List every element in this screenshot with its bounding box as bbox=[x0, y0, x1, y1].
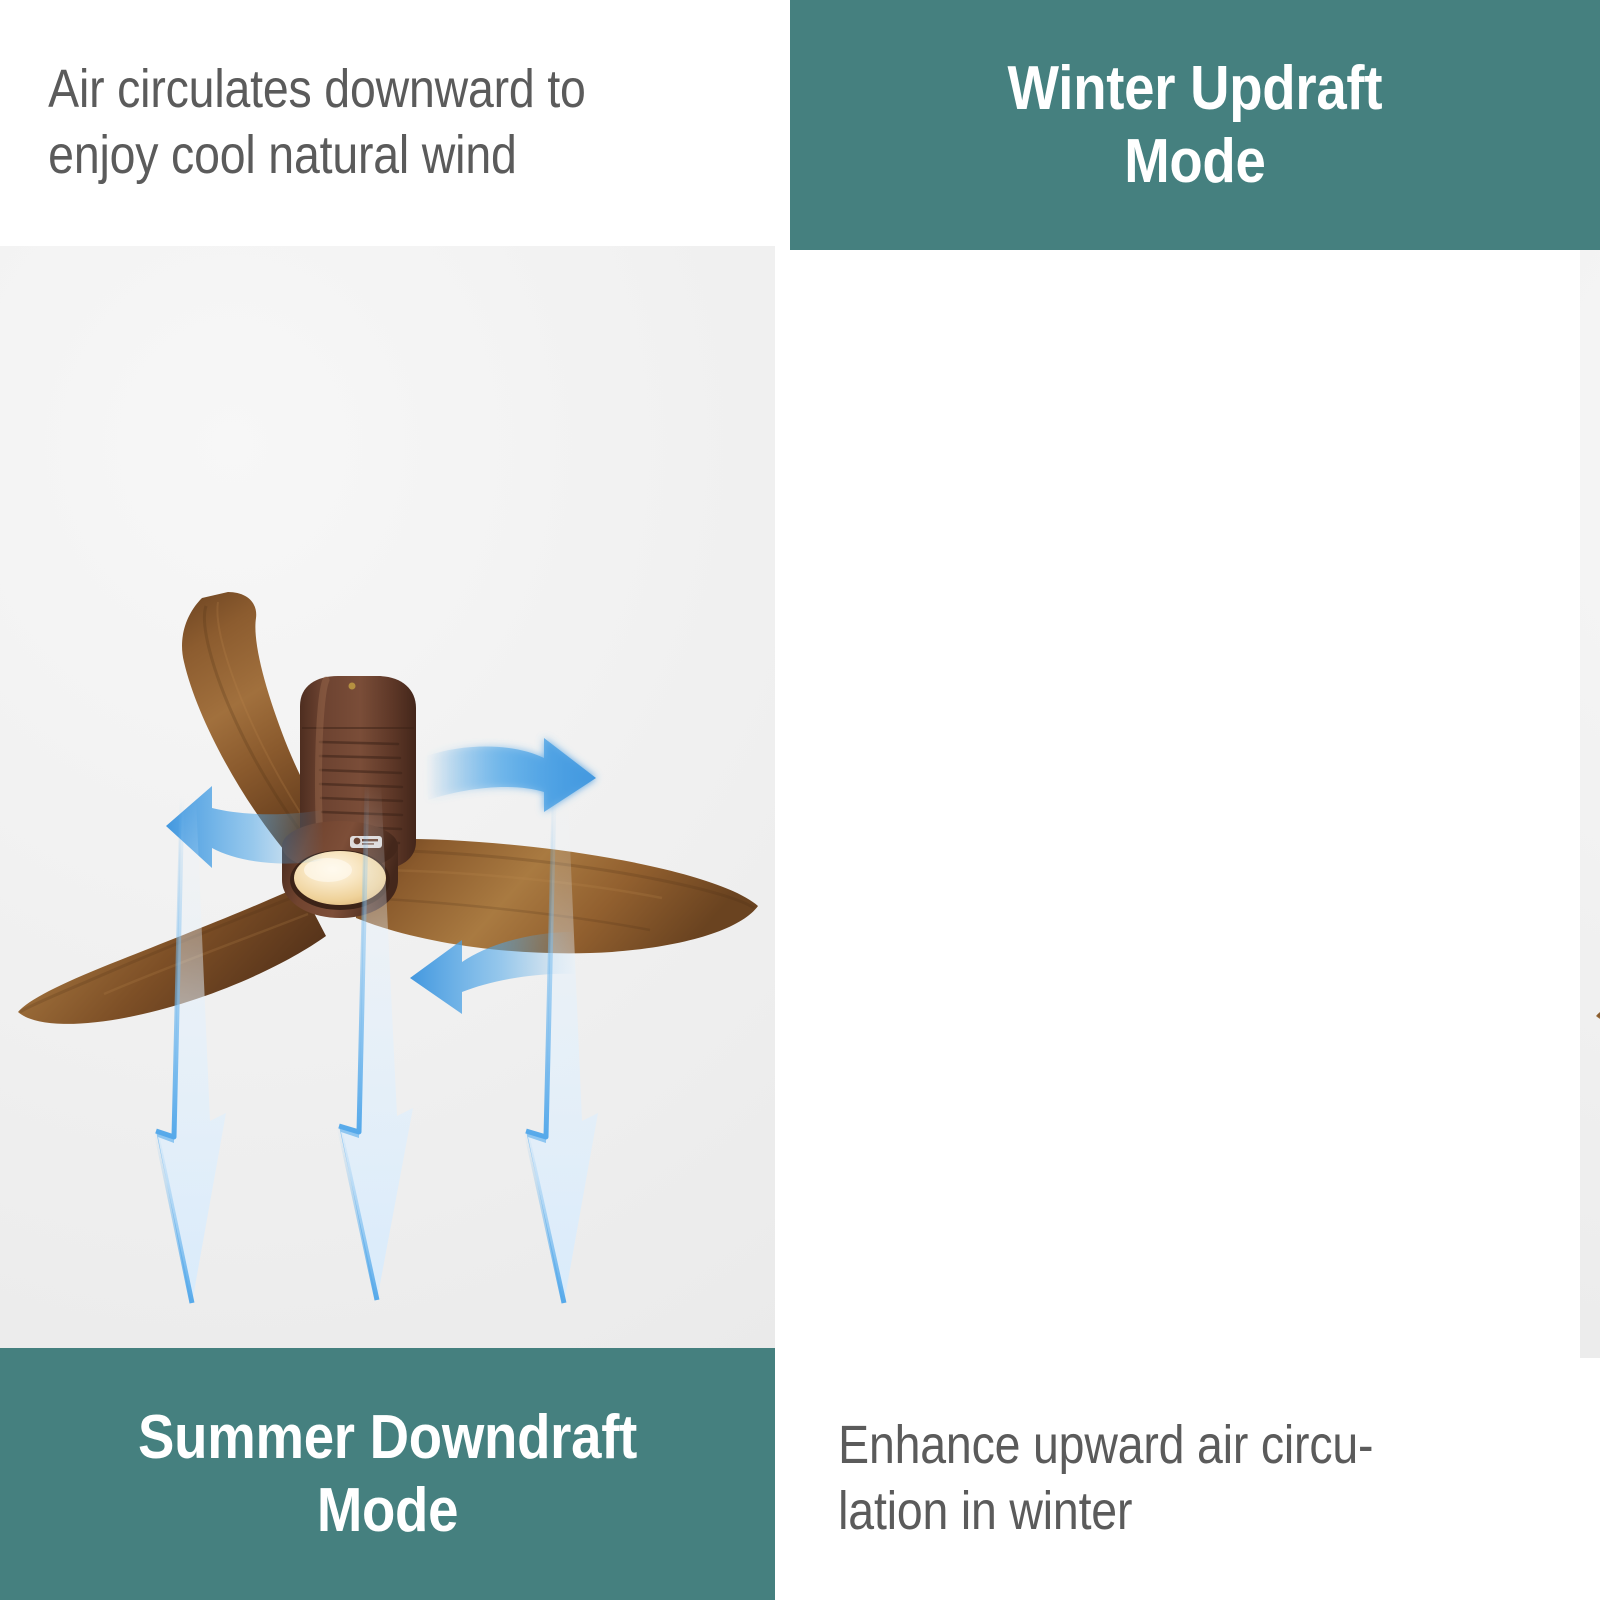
right-fan-photo bbox=[1580, 250, 1600, 1358]
downdraft-stream-3 bbox=[500, 791, 630, 1311]
left-header-line1: Air circulates downward to bbox=[48, 57, 618, 123]
right-panel-column: Winter Updraft Mode bbox=[790, 0, 1600, 1600]
left-panel-footer: Summer Downdraft Mode bbox=[0, 1348, 775, 1600]
column-divider bbox=[775, 0, 790, 1600]
left-panel-column: Air circulates downward to enjoy cool na… bbox=[0, 0, 775, 1600]
infographic-root: Air circulates downward to enjoy cool na… bbox=[0, 0, 1600, 1600]
downdraft-stream-2 bbox=[315, 778, 445, 1308]
right-footer-line1: Enhance upward air circu- bbox=[838, 1413, 1373, 1479]
right-panel-footer: Enhance upward air circu- lation in wint… bbox=[790, 1358, 1487, 1600]
left-footer-line2: Mode bbox=[138, 1474, 637, 1547]
fan-illustration-2 bbox=[1580, 250, 1600, 1358]
left-footer-line1: Summer Downdraft bbox=[138, 1401, 637, 1474]
ceiling-fan-updraft bbox=[1580, 250, 1600, 1358]
downdraft-stream-1 bbox=[130, 791, 260, 1311]
right-footer-line2: lation in winter bbox=[838, 1479, 1373, 1545]
right-panel-header: Winter Updraft Mode bbox=[790, 0, 1600, 250]
left-fan-photo bbox=[0, 246, 775, 1348]
right-header-line2: Mode bbox=[1008, 125, 1383, 198]
right-header-line1: Winter Updraft bbox=[1008, 52, 1383, 125]
left-panel-header: Air circulates downward to enjoy cool na… bbox=[0, 0, 667, 246]
fan-blade-left-2 bbox=[1596, 890, 1600, 1028]
left-header-line2: enjoy cool natural wind bbox=[48, 123, 618, 189]
